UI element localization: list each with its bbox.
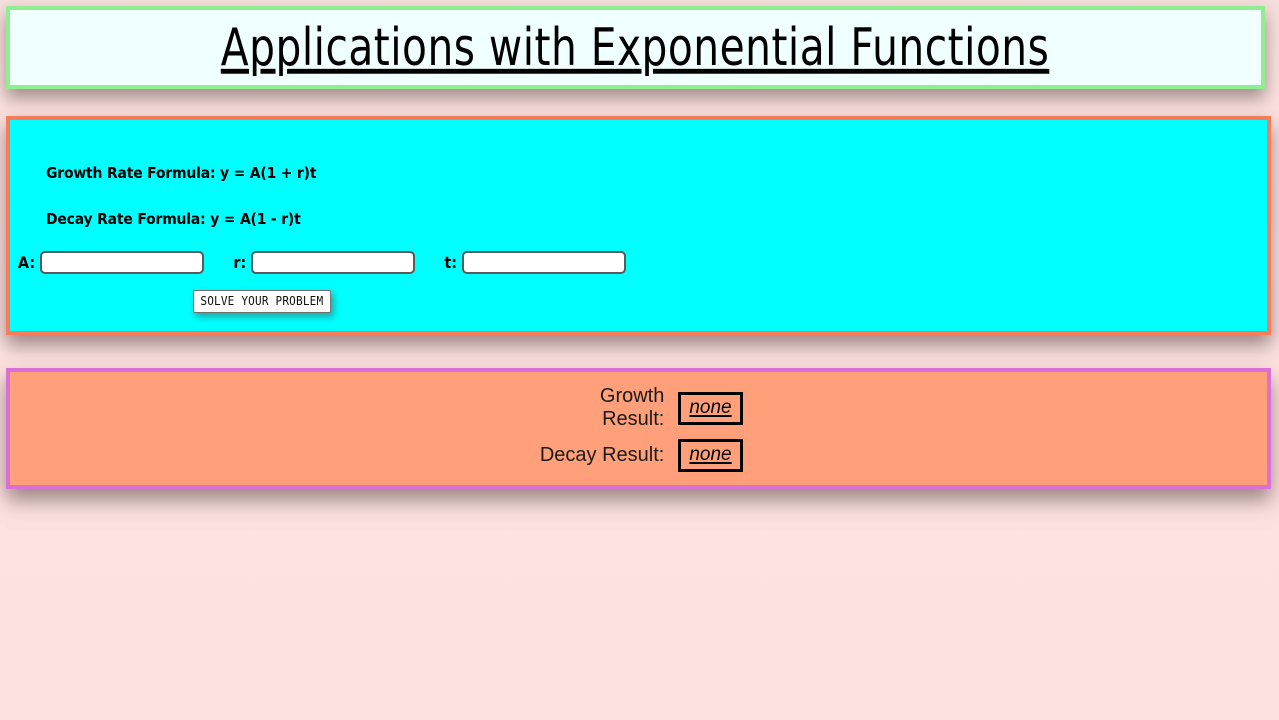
decay-result-row: Decay Result: none (10, 439, 1267, 472)
decay-result-label: Decay Result: (534, 444, 664, 467)
input-time-t[interactable] (462, 251, 626, 274)
results-panel: Growth Result: none Decay Result: none (6, 368, 1271, 489)
header-panel: Applications with Exponential Functions (6, 6, 1265, 89)
growth-rate-formula-text: Growth Rate Formula: y = A(1 + r)t (46, 164, 1182, 182)
growth-result-label: Growth Result: (534, 385, 664, 431)
input-rate-r[interactable] (251, 251, 415, 274)
formula-input-panel: Growth Rate Formula: y = A(1 + r)t Decay… (6, 116, 1271, 335)
solve-your-problem-button[interactable]: SOLVE YOUR PROBLEM (193, 290, 331, 313)
growth-result-value: none (689, 397, 731, 418)
decay-result-box: none (678, 439, 742, 472)
decay-result-value: none (689, 444, 731, 465)
field-group-t: t: (443, 251, 626, 274)
solve-button-row: SOLVE YOUR PROBLEM (10, 290, 1267, 313)
growth-result-row: Growth Result: none (10, 385, 1267, 431)
input-amount-a[interactable] (40, 251, 204, 274)
label-rate-r: r: (234, 253, 247, 272)
variable-input-row: A: r: t: (10, 251, 1267, 274)
label-time-t: t: (445, 253, 458, 272)
field-group-a: A: (16, 251, 204, 274)
page-title: Applications with Exponential Functions (221, 18, 1049, 78)
growth-result-box: none (678, 392, 742, 425)
decay-rate-formula-text: Decay Rate Formula: y = A(1 - r)t (46, 210, 1182, 228)
label-amount-a: A: (18, 253, 35, 272)
field-group-r: r: (232, 251, 415, 274)
